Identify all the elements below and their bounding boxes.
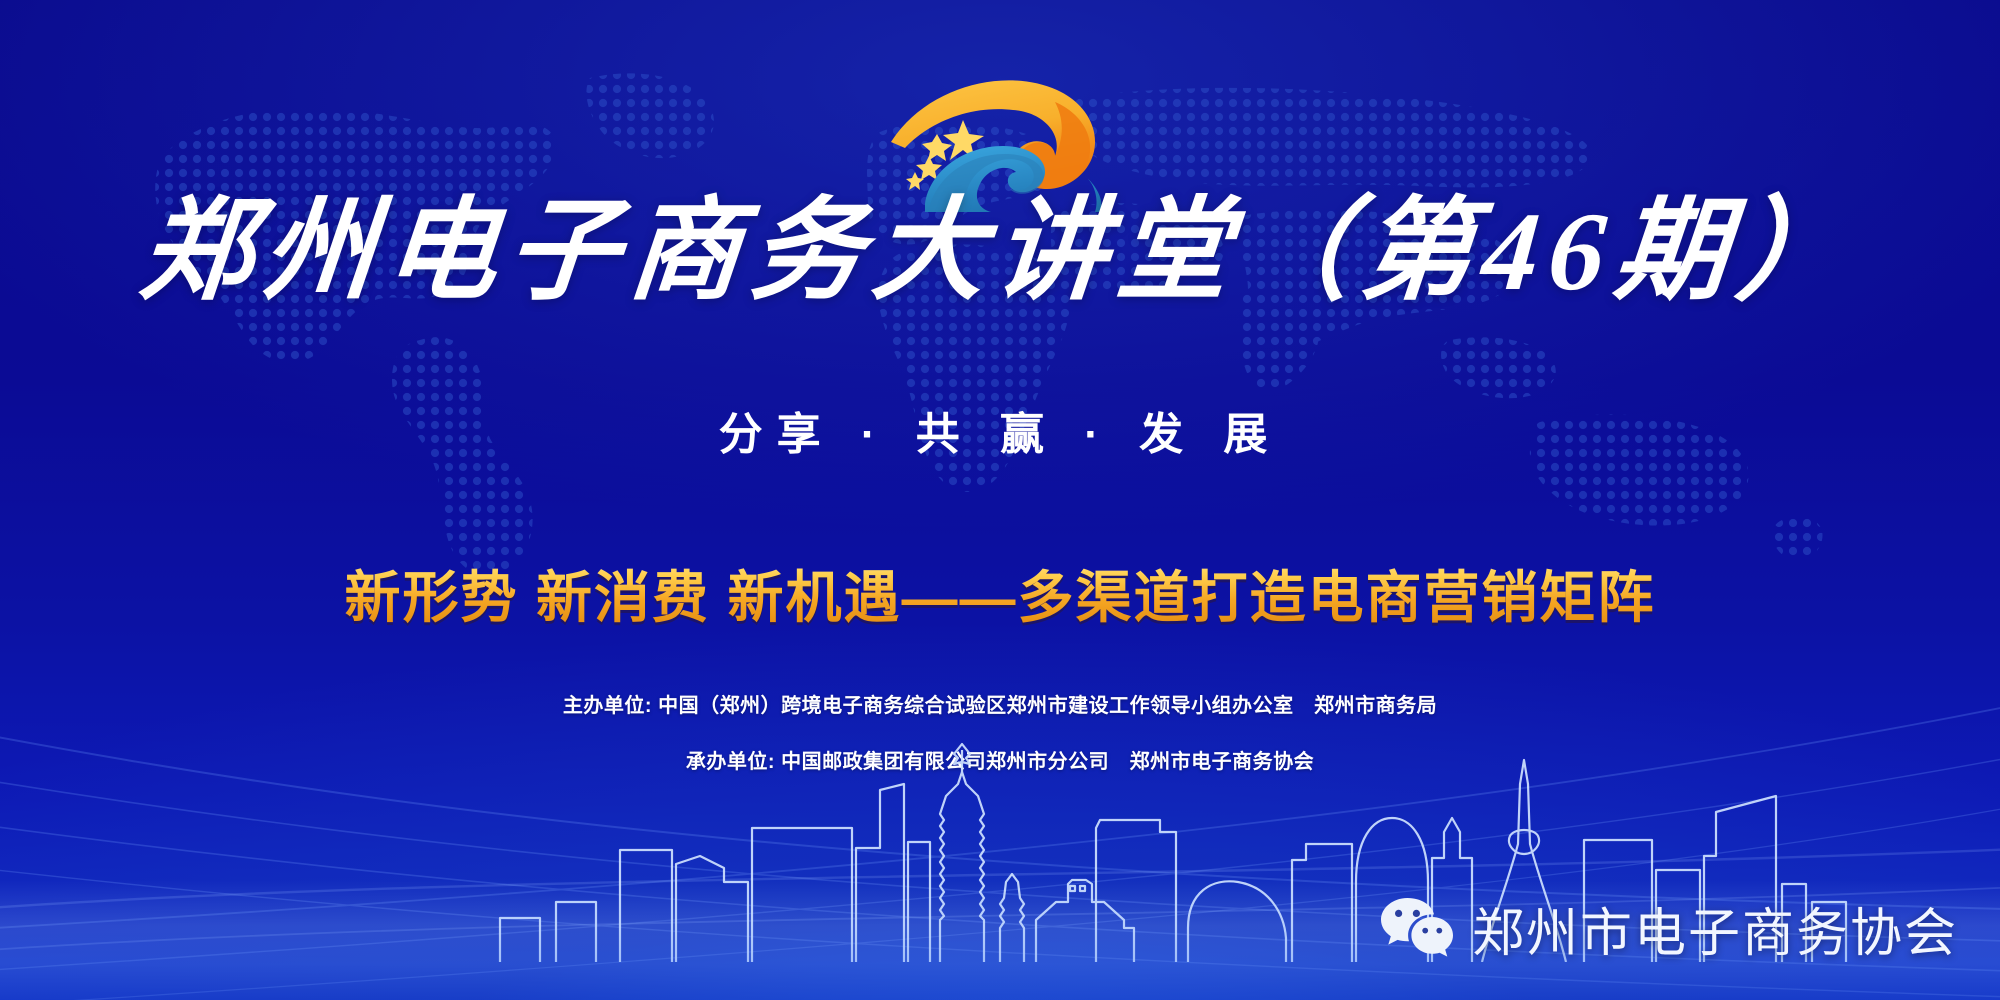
poster-headline: 新形势 新消费 新机遇——多渠道打造电商营销矩阵 <box>0 553 2000 634</box>
wechat-account-badge[interactable]: 郑州市电子商务协会 <box>1380 891 1958 966</box>
wechat-icon <box>1380 896 1454 962</box>
poster-subtitle: 分享 · 共 赢 · 发 展 <box>0 398 2000 462</box>
event-poster: 郑州电子商务大讲堂（第46期） 分享 · 共 赢 · 发 展 新形势 新消费 新… <box>0 0 2000 1000</box>
wechat-account-name: 郑州市电子商务协会 <box>1472 891 1958 966</box>
host-organizer-line: 主办单位: 中国（郑州）跨境电子商务综合试验区郑州市建设工作领导小组办公室 郑州… <box>0 689 2000 718</box>
coorganizer-line: 承办单位: 中国邮政集团有限公司郑州市分公司 郑州市电子商务协会 <box>0 745 2000 774</box>
page-title: 郑州电子商务大讲堂（第46期） <box>0 196 2000 308</box>
